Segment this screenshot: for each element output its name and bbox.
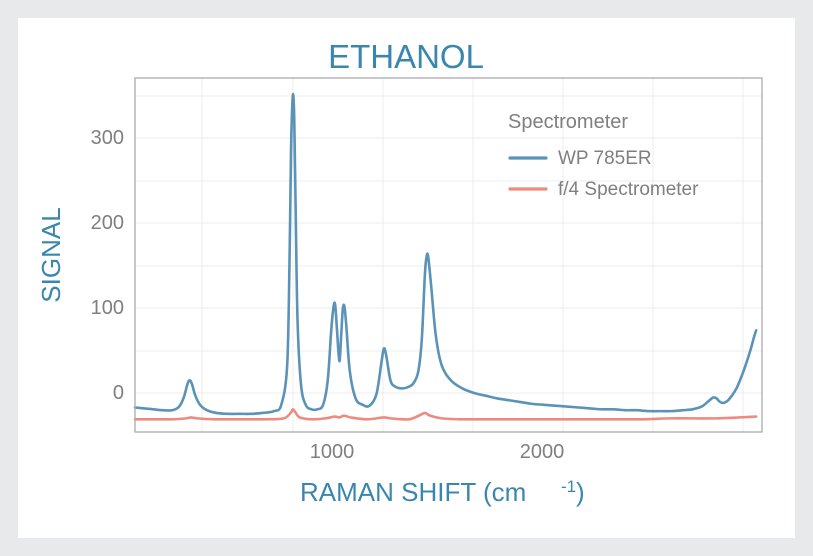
x-axis-title-superscript: -1 [561, 477, 576, 496]
y-axis-title: SIGNAL [36, 207, 66, 302]
y-axis-tick-labels: 0 100 200 300 [91, 127, 124, 404]
y-tick-200: 200 [91, 212, 124, 234]
x-tick-2000: 2000 [520, 441, 565, 463]
x-axis-title-main: RAMAN SHIFT (cm [300, 477, 526, 507]
x-axis-tick-labels: 1000 2000 [310, 441, 565, 463]
legend-title: Spectrometer [508, 111, 628, 133]
y-tick-100: 100 [91, 297, 124, 319]
x-tick-1000: 1000 [310, 441, 355, 463]
legend-label-f4-spectrometer: f/4 Spectrometer [558, 179, 699, 200]
figure-card: ETHANOL [18, 18, 795, 538]
y-tick-300: 300 [91, 127, 124, 149]
legend-label-wp785er: WP 785ER [558, 148, 652, 169]
x-axis-title-close: ) [576, 477, 585, 507]
chart-title: ETHANOL [328, 38, 484, 75]
raman-spectrum-chart: ETHANOL [18, 18, 795, 538]
y-tick-0: 0 [113, 382, 124, 404]
x-axis-title: RAMAN SHIFT (cm -1 ) [300, 477, 585, 507]
